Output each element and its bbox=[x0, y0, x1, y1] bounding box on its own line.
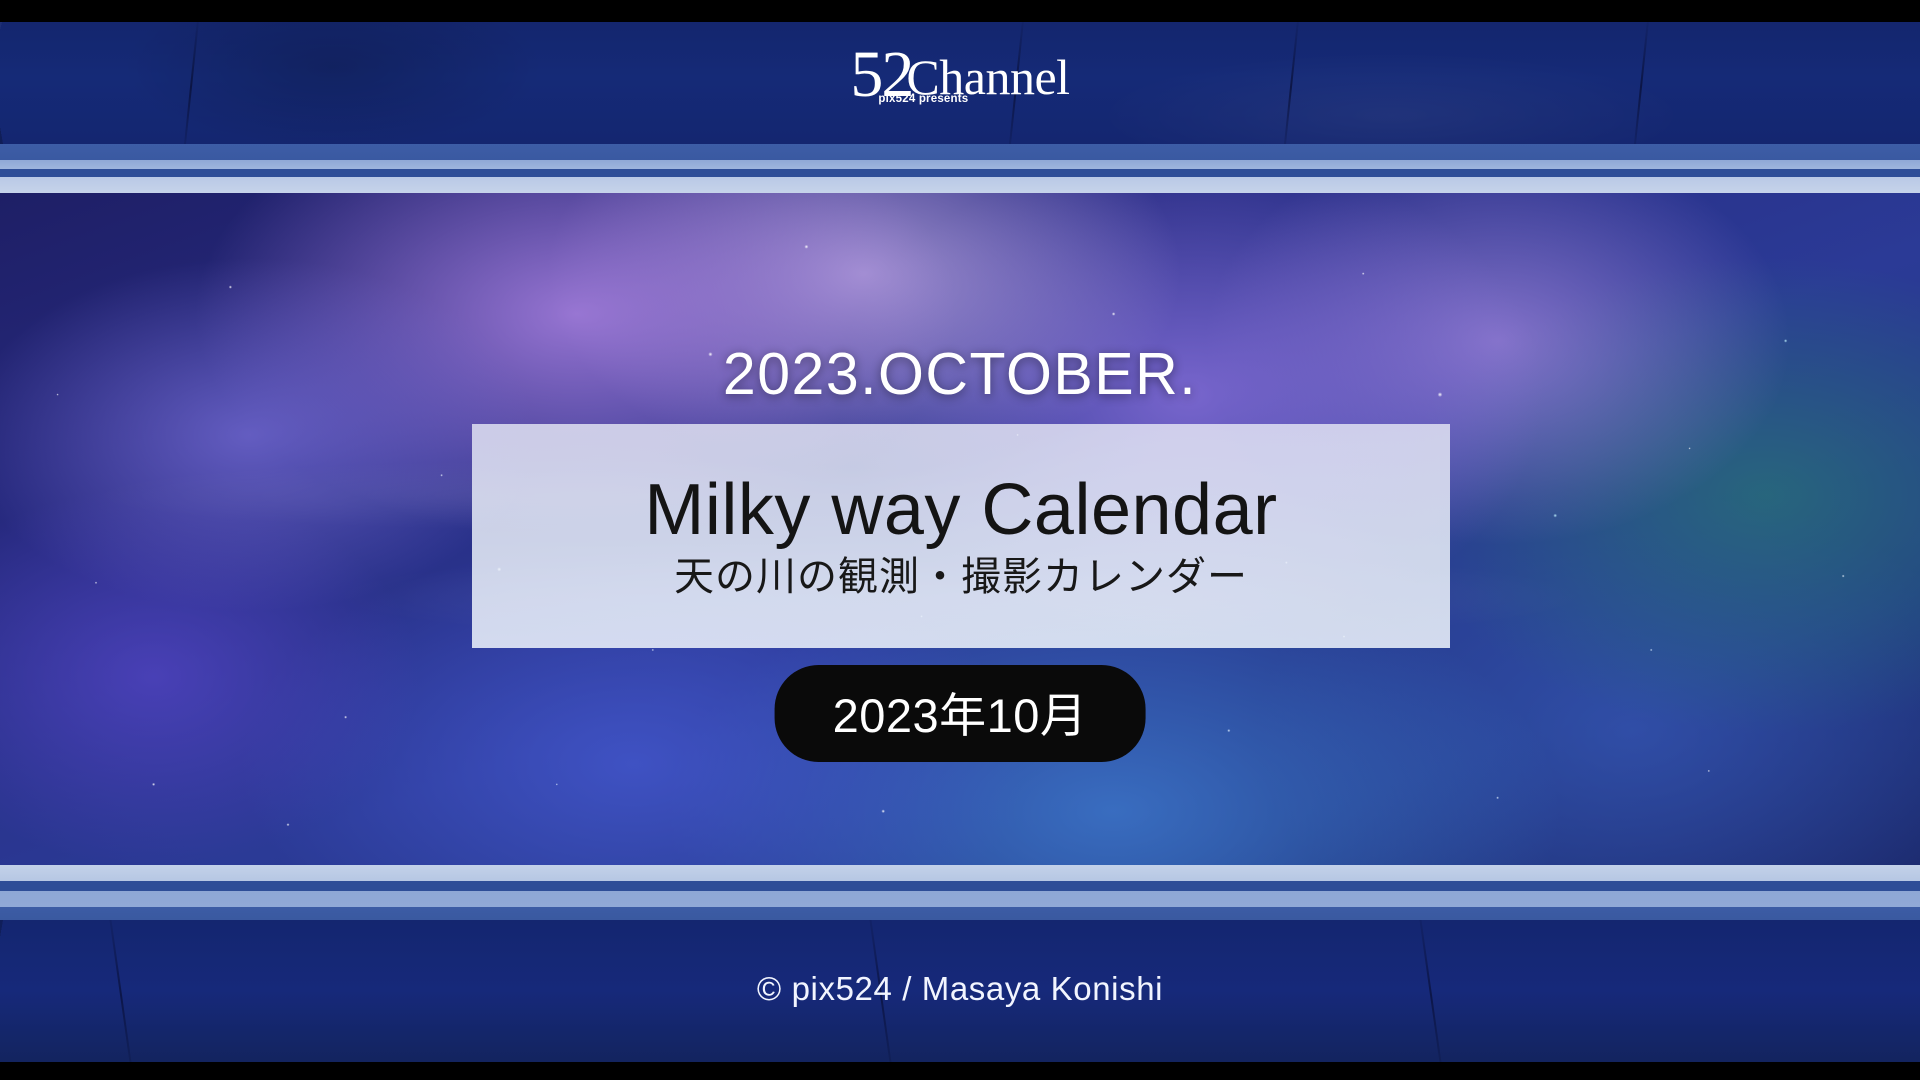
slide-canvas: 52 Channel pix524 presents 2023.OCTOBER.… bbox=[0, 0, 1920, 1080]
copyright-text: © pix524 / Masaya Konishi bbox=[757, 970, 1163, 1008]
title-card: Milky way Calendar 天の川の観測・撮影カレンダー bbox=[472, 424, 1450, 648]
divider-stripe-top-3 bbox=[0, 169, 1920, 177]
divider-stripe-top-2 bbox=[0, 160, 1920, 169]
divider-stripe-bottom-2 bbox=[0, 881, 1920, 891]
brand-logo-tagline: pix524 presents bbox=[878, 94, 968, 106]
title-main: Milky way Calendar bbox=[644, 473, 1277, 549]
period-badge: 2023年10月 bbox=[775, 665, 1146, 762]
footer-vein bbox=[1417, 920, 1445, 1062]
divider-stripe-bottom-1 bbox=[0, 865, 1920, 881]
footer-vein bbox=[107, 920, 135, 1062]
title-subtitle-japanese: 天の川の観測・撮影カレンダー bbox=[674, 555, 1248, 599]
divider-stripe-top-4 bbox=[0, 177, 1920, 193]
date-line: 2023.OCTOBER. bbox=[723, 340, 1197, 408]
letterbox-bottom bbox=[0, 1062, 1920, 1080]
brand-logo[interactable]: 52 Channel pix524 presents bbox=[850, 48, 1069, 102]
divider-stripe-bottom-4 bbox=[0, 907, 1920, 920]
divider-stripe-top-1 bbox=[0, 144, 1920, 160]
letterbox-top bbox=[0, 0, 1920, 22]
divider-stripe-bottom-3 bbox=[0, 891, 1920, 907]
